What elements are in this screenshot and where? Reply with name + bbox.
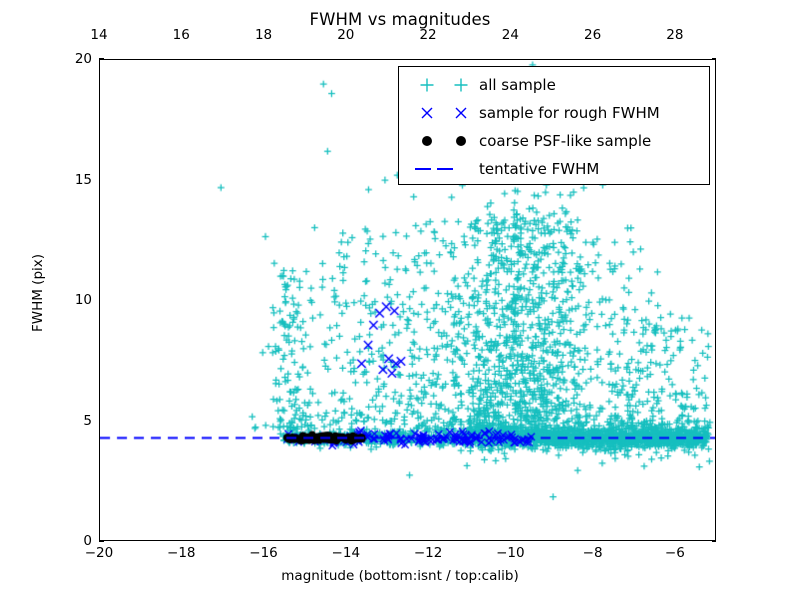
x-tick-label-bottom: −16 bbox=[249, 545, 278, 561]
legend-label: tentative FWHM bbox=[479, 160, 599, 178]
y-tick-label: 0 bbox=[52, 533, 92, 549]
legend-item-0: all sample bbox=[399, 71, 709, 99]
legend-marker-dashed-line-icon bbox=[405, 157, 479, 181]
x-tick-label-top: 20 bbox=[337, 27, 354, 43]
legend-glyph bbox=[419, 105, 435, 121]
legend-glyph bbox=[419, 77, 435, 93]
legend-glyph bbox=[453, 133, 469, 149]
x-tick-label-top: 28 bbox=[666, 27, 683, 43]
legend-dash bbox=[415, 168, 431, 170]
legend-item-1: sample for rough FWHM bbox=[399, 99, 709, 127]
x-tick-label-top: 16 bbox=[173, 27, 190, 43]
x-axis-label: magnitude (bottom:isnt / top:calib) bbox=[0, 568, 800, 584]
x-tick-label-bottom: −18 bbox=[167, 545, 196, 561]
x-tick-label-top: 24 bbox=[502, 27, 519, 43]
legend-marker-plus-icon bbox=[405, 73, 479, 97]
x-tick-label-top: 22 bbox=[419, 27, 436, 43]
legend-label: sample for rough FWHM bbox=[479, 104, 660, 122]
x-tick-label-bottom: −10 bbox=[496, 545, 525, 561]
y-tick-label: 10 bbox=[52, 292, 92, 308]
x-tick-label-bottom: −12 bbox=[414, 545, 443, 561]
x-tick-label-bottom: −14 bbox=[332, 545, 361, 561]
y-axis-label: FWHM (pix) bbox=[30, 93, 46, 493]
figure-canvas: FWHM vs magnitudes FWHM (pix) magnitude … bbox=[0, 0, 800, 600]
y-tick-label: 15 bbox=[52, 172, 92, 188]
legend-label: coarse PSF-like sample bbox=[479, 132, 651, 150]
legend-item-3: tentative FWHM bbox=[399, 155, 709, 183]
y-tick-label: 5 bbox=[52, 413, 92, 429]
legend-glyph bbox=[419, 133, 435, 149]
y-tick-label: 20 bbox=[52, 51, 92, 67]
x-tick-label-top: 18 bbox=[255, 27, 272, 43]
legend-marker-cross-icon bbox=[405, 101, 479, 125]
x-tick-label-top: 26 bbox=[584, 27, 601, 43]
legend-label: all sample bbox=[479, 76, 556, 94]
x-tick-label-bottom: −6 bbox=[665, 545, 685, 561]
legend-dash bbox=[437, 168, 453, 170]
x-tick-label-top: 14 bbox=[90, 27, 107, 43]
x-tick-label-bottom: −8 bbox=[583, 545, 603, 561]
legend-item-2: coarse PSF-like sample bbox=[399, 127, 709, 155]
legend-glyph bbox=[453, 77, 469, 93]
legend-marker-dot-icon bbox=[405, 129, 479, 153]
legend: all samplesample for rough FWHMcoarse PS… bbox=[398, 66, 710, 185]
legend-glyph bbox=[453, 105, 469, 121]
